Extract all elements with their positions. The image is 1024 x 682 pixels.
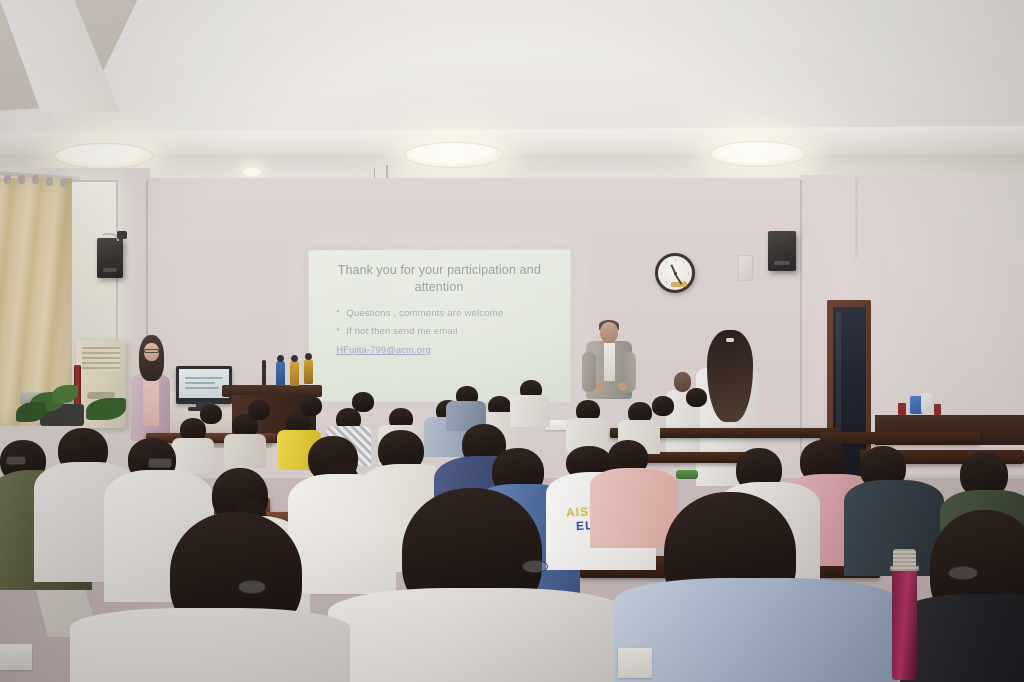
wall-fixture-box	[738, 255, 753, 281]
presenter-hand	[596, 382, 605, 391]
slide-bullet-item: If not then send me email	[336, 326, 554, 337]
desk-figurine	[276, 360, 285, 386]
security-camera-icon	[117, 231, 127, 239]
thermos-flask[interactable]	[892, 568, 917, 680]
audience-torso-front	[70, 608, 350, 682]
assistant-glasses-icon	[144, 349, 159, 353]
curtain-ring	[18, 175, 25, 184]
audience-torso-pink	[590, 468, 678, 548]
audience-torso	[510, 395, 550, 427]
desk-item-red	[898, 403, 906, 415]
presenter-head	[600, 322, 618, 343]
wall-clock	[655, 253, 695, 293]
glasses-icon	[6, 456, 26, 465]
audience-head	[686, 388, 707, 407]
microphone	[262, 360, 266, 386]
audience-head	[200, 404, 222, 424]
thermos-cap[interactable]	[893, 549, 916, 571]
curtain-ring	[4, 175, 11, 184]
standing-woman-hair	[707, 330, 753, 422]
slide-bullet-list: Questions , comments are welcome If not …	[324, 308, 554, 337]
desk-item-red	[934, 404, 941, 415]
hair-clip	[726, 338, 734, 342]
audience-torso	[224, 434, 266, 468]
audience-torso-front-dark	[900, 594, 1024, 682]
slide-bullet-item: Questions , comments are welcome	[336, 308, 554, 319]
clock-face	[660, 258, 690, 288]
desk-figurine	[290, 360, 299, 386]
paper-sheet	[0, 644, 32, 670]
attendee-head	[674, 372, 691, 392]
audience-head	[248, 400, 270, 420]
audience-head	[300, 396, 322, 416]
audience-head	[652, 396, 674, 416]
curtain-ring	[60, 178, 67, 187]
desk-item-white	[921, 393, 932, 414]
ac-vent-grill	[82, 347, 120, 371]
glasses-icon	[238, 580, 266, 594]
ceiling-light-icon	[55, 143, 153, 169]
ceiling-light-icon	[405, 142, 503, 168]
presenter-arm	[582, 352, 596, 392]
ceiling-light-icon	[710, 141, 806, 167]
ceiling-light-small-icon	[243, 168, 261, 176]
paper-sheet	[618, 648, 652, 678]
wooden-bench	[820, 432, 980, 444]
glasses-icon	[522, 560, 548, 573]
audience-torso-front-blue	[614, 578, 898, 682]
audience-torso-front	[328, 588, 628, 682]
desk-figurine	[304, 358, 313, 384]
presenter-hand	[618, 382, 627, 391]
wall-speaker	[768, 231, 796, 271]
wall-corner-seam	[800, 180, 802, 460]
glasses-icon	[948, 566, 978, 580]
curtain-ring	[32, 175, 39, 184]
presenter-shirt	[604, 343, 615, 381]
assistant-top	[143, 378, 159, 426]
audience-head	[352, 392, 374, 412]
glasses-icon	[148, 458, 172, 468]
curtain-ring	[46, 177, 53, 186]
slide-title: Thank you for your participation and att…	[324, 262, 554, 295]
slide-email-link[interactable]: HFujita-799@acm.org	[336, 344, 554, 355]
clock-center-pin	[674, 272, 677, 275]
green-stool[interactable]	[676, 470, 698, 479]
audience-torso	[172, 438, 214, 474]
wall-speaker	[97, 238, 123, 278]
lecture-hall-photo: Thank you for your participation and att…	[0, 0, 1024, 682]
wall-conduit	[855, 178, 858, 258]
